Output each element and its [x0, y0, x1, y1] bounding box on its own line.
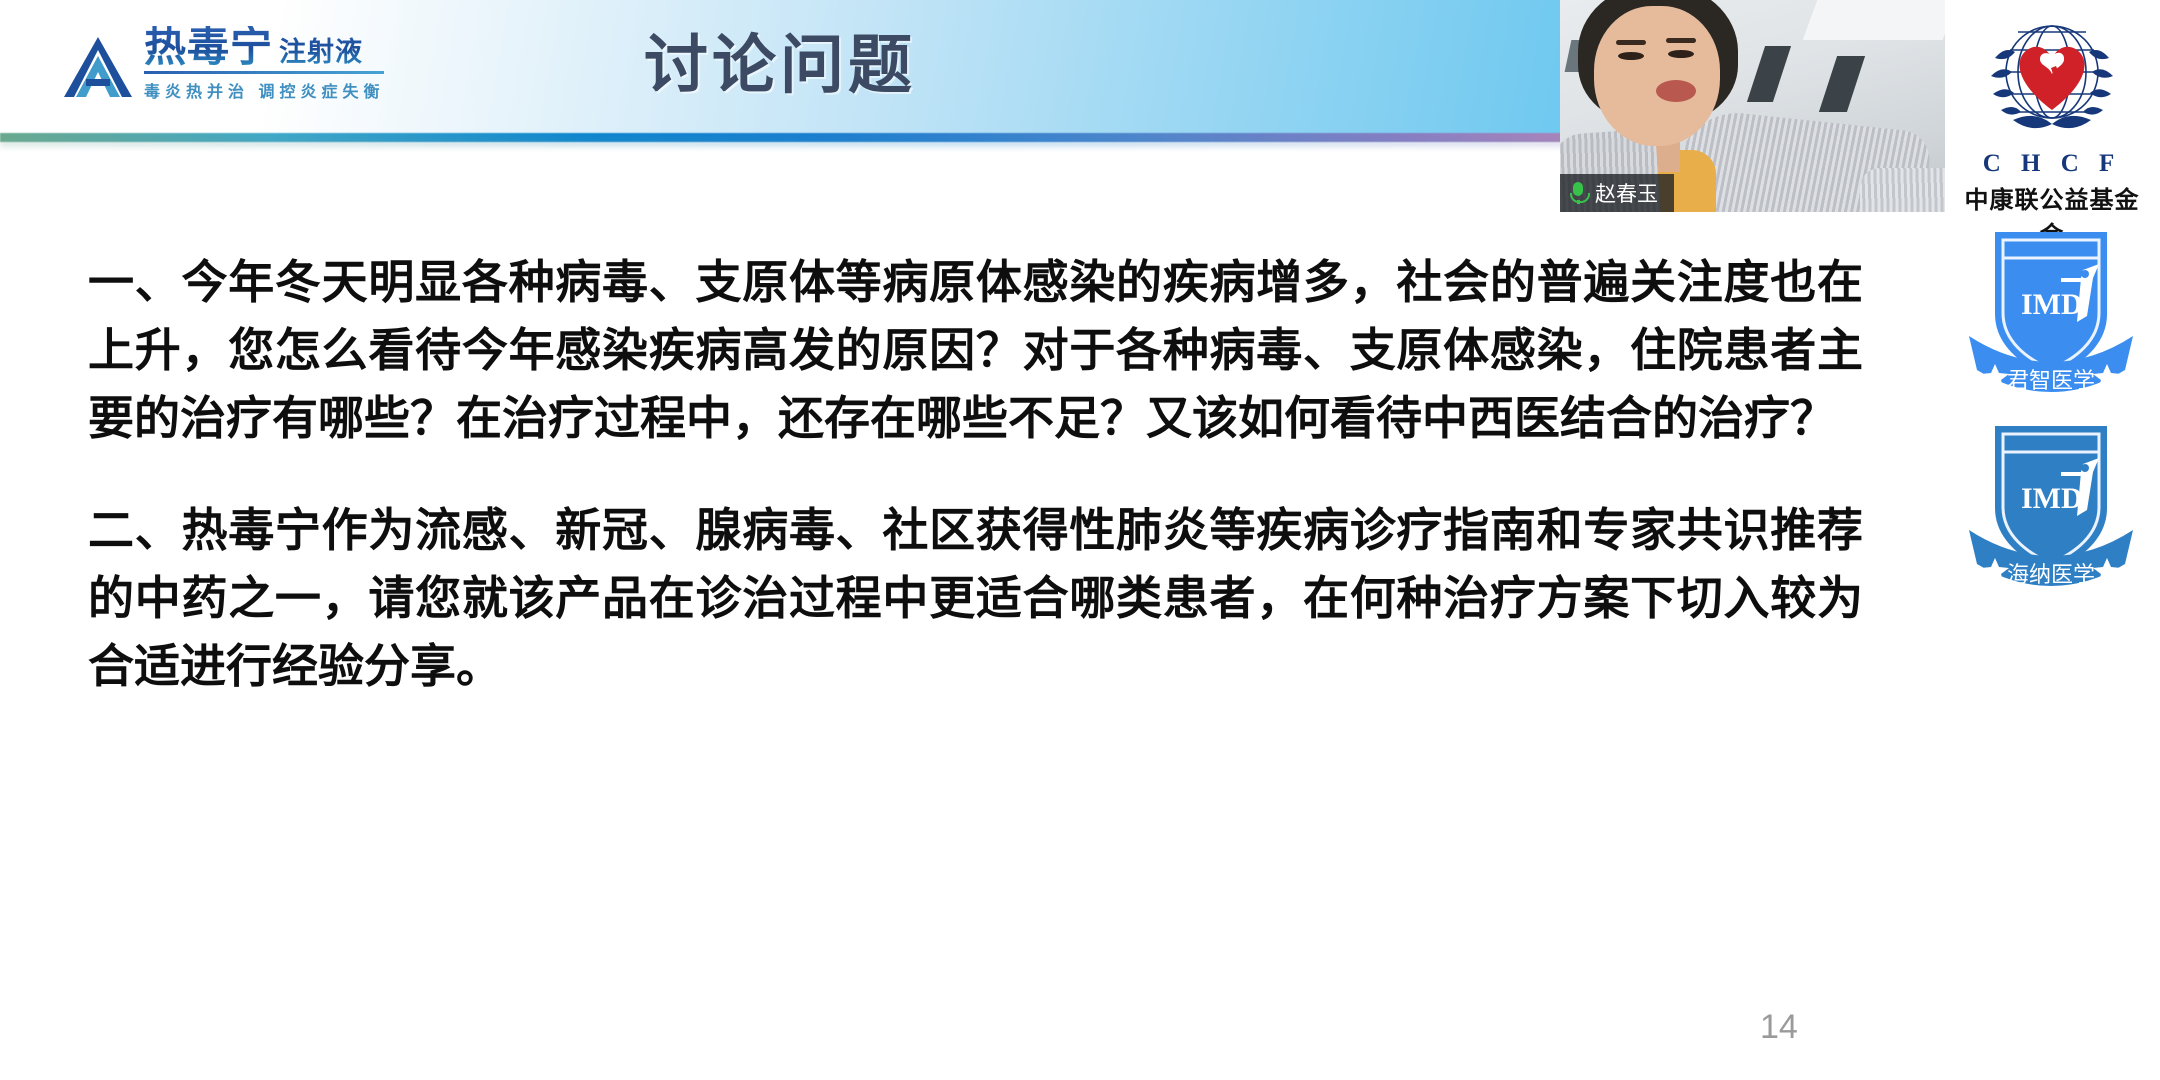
- imd-badge-junzhi: IMD 君智医学: [1965, 218, 2137, 398]
- webcam-mouth: [1656, 80, 1696, 102]
- imd-badge-haina: IMD 海纳医学: [1965, 412, 2137, 592]
- webcam-eye-right: [1668, 50, 1694, 58]
- webcam-sleeve: [1860, 168, 1947, 212]
- imd-badge-abbr-1: IMD: [2021, 288, 2083, 321]
- question-paragraph-2: 二、热毒宁作为流感、新冠、腺病毒、社区获得性肺炎等疾病诊疗指南和专家共识推荐的中…: [88, 496, 1863, 700]
- webcam-nameplate: 赵春玉: [1560, 174, 1674, 212]
- chcf-logo: C H C F 中康联公益基金会: [1957, 6, 2147, 250]
- globe-heart-laurel-icon: [1977, 6, 2127, 156]
- page-number: 14: [1760, 1008, 1798, 1047]
- shield-crest-icon: IMD 君智医学: [1965, 218, 2137, 398]
- webcam-ceiling: [1803, 0, 1947, 40]
- question-paragraph-1: 一、今年冬天明显各种病毒、支原体等病原体感染的疾病增多，社会的普遍关注度也在上升…: [88, 248, 1863, 452]
- chcf-abbreviation: C H C F: [1957, 150, 2147, 178]
- slide-body: 一、今年冬天明显各种病毒、支原体等病原体感染的疾病增多，社会的普遍关注度也在上升…: [88, 248, 1863, 700]
- microphone-icon: [1570, 182, 1586, 204]
- webcam-face: [1594, 6, 1720, 146]
- webcam-video-tile[interactable]: 赵春玉: [1560, 0, 1947, 212]
- presentation-slide: 热毒宁 注射液 毒炎热并治 调控炎症失衡 讨论问题: [0, 0, 2160, 1080]
- webcam-participant-name: 赵春玉: [1595, 178, 1658, 208]
- webcam-brow-left: [1616, 40, 1646, 45]
- webcam-brow-right: [1666, 38, 1696, 43]
- slide-title: 讨论问题: [0, 14, 1560, 106]
- imd-badge-ribbon-1: 君智医学: [2007, 369, 2095, 394]
- imd-badge-abbr-2: IMD: [2021, 482, 2083, 515]
- shield-crest-icon: IMD 海纳医学: [1965, 412, 2137, 592]
- imd-badge-ribbon-2: 海纳医学: [2007, 563, 2095, 588]
- sponsor-logo-rail: C H C F 中康联公益基金会 IMD 君智医学: [1945, 0, 2160, 1080]
- webcam-eye-left: [1618, 52, 1644, 60]
